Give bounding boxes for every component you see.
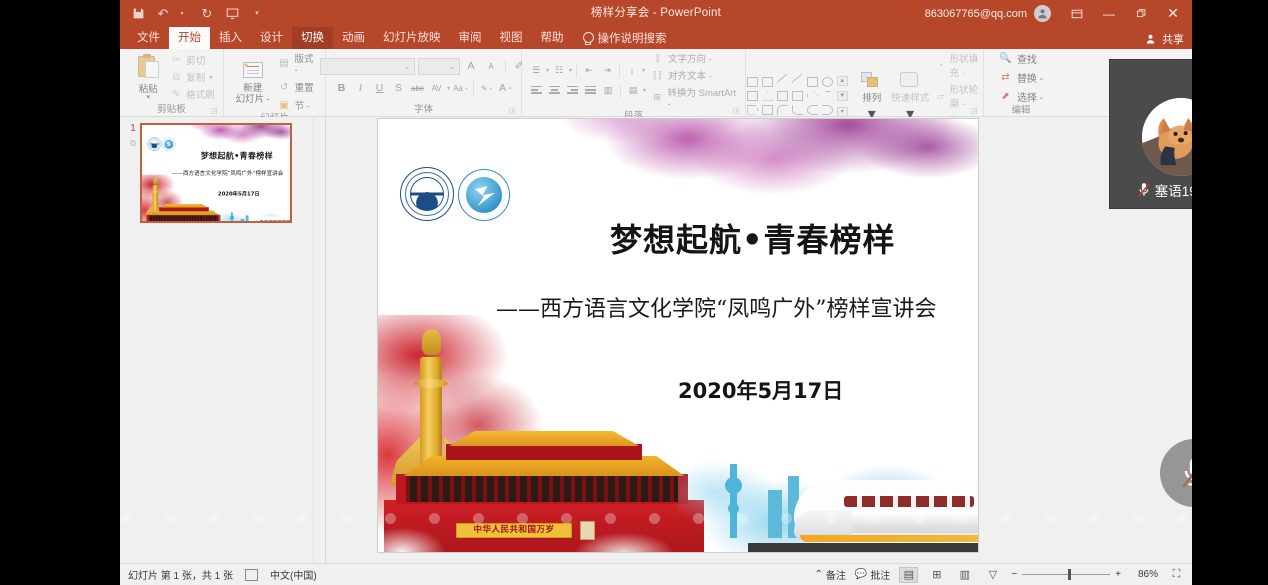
align-text-label: 对齐文本 - <box>668 68 712 82</box>
tiananmen-banner-text: 中华人民共和国万岁 <box>456 523 572 538</box>
grow-font-button[interactable]: A <box>463 58 480 75</box>
title-bar: ↶ ▾ ↻ ▾ 榜样分享会 - PowerPoint 863067765@qq.… <box>120 0 1192 27</box>
tab-insert[interactable]: 插入 <box>210 27 251 49</box>
comment-icon: 💬 <box>855 569 867 580</box>
slide-canvas[interactable]: 中华人民共和国万岁 <box>378 119 978 552</box>
shape-pentagon-icon[interactable] <box>747 105 758 115</box>
zoom-in-button[interactable]: + <box>1115 569 1121 580</box>
slide-count-label: 幻灯片 第 1 张，共 1 张 <box>128 567 233 582</box>
shape-arrow-down-icon[interactable] <box>822 91 833 101</box>
copy-icon: ⧉ <box>170 71 182 83</box>
shapes-gallery-scroll[interactable]: ▲ ▼ ▾ <box>837 76 848 117</box>
shape-flow-icon[interactable] <box>777 91 788 101</box>
zoom-out-button[interactable]: − <box>1011 569 1017 580</box>
bullets-caret-icon[interactable]: ▾ <box>546 67 549 74</box>
share-person-icon <box>1146 33 1158 45</box>
ribbon-group-clipboard: 粘贴 ▾ ✂ 剪切 ⧉ 复制 ▾ <box>120 49 224 116</box>
line-spacing-button[interactable]: ↕ <box>624 63 640 78</box>
shape-rounded-rect-icon[interactable] <box>747 91 758 101</box>
language-label[interactable]: 中文(中国) <box>270 567 317 582</box>
arrange-button[interactable]: 排列 ▾ <box>854 69 890 124</box>
replace-label: 替换 - <box>1017 70 1043 85</box>
tab-file[interactable]: 文件 <box>128 27 169 49</box>
tell-me-search[interactable]: 操作说明搜索 <box>573 27 676 49</box>
section-button[interactable]: ▣ 节 - <box>278 98 319 112</box>
reset-label: 重置 <box>295 80 314 94</box>
section-icon: ▣ <box>278 99 291 112</box>
mic-muted-icon <box>1137 182 1151 198</box>
shape-fill-label: 形状填充 - <box>950 51 984 79</box>
tab-help[interactable]: 帮助 <box>532 27 573 49</box>
letterbox-right <box>1192 0 1268 585</box>
text-shadow-button[interactable]: S <box>390 80 407 97</box>
shape-outline-label: 形状轮廓 - <box>950 82 984 110</box>
zoom-slider[interactable]: − + <box>1011 569 1121 580</box>
paste-dropdown-icon[interactable]: ▾ <box>146 95 150 101</box>
comments-label: 批注 <box>870 567 890 582</box>
zoom-track[interactable] <box>1022 574 1110 575</box>
powerpoint-window: ↶ ▾ ↻ ▾ 榜样分享会 - PowerPoint 863067765@qq.… <box>120 0 1192 585</box>
slide-subtitle-text[interactable]: ——西方语言文化学院“凤鸣广外”榜样宣讲会 <box>496 291 937 323</box>
shape-fill-icon: ◔ <box>936 59 946 71</box>
select-button[interactable]: ⬈ 选择 - <box>999 89 1043 104</box>
notes-icon: ⌃ <box>814 569 822 580</box>
bullets-button[interactable]: ☰ <box>528 63 544 78</box>
reading-view-icon[interactable]: ▥ <box>955 567 974 583</box>
paste-button[interactable]: 粘贴 ▾ <box>128 54 168 101</box>
search-icon: 🔍 <box>999 52 1012 65</box>
slide-date-text[interactable]: 2020年5月17日 <box>678 375 843 405</box>
new-slide-label-2: 幻灯片 - <box>236 94 270 105</box>
format-painter-icon: ✎ <box>170 88 182 100</box>
fit-to-window-icon[interactable]: ⛶ <box>1167 567 1186 583</box>
tell-me-label: 操作说明搜索 <box>598 30 667 46</box>
find-label: 查找 <box>1017 51 1037 66</box>
workspace: 1 ✩ 中华人民共和国万岁 <box>120 117 1192 566</box>
tab-slideshow[interactable]: 幻灯片放映 <box>374 27 450 49</box>
tab-animations[interactable]: 动画 <box>333 27 374 49</box>
align-left-button[interactable] <box>528 83 544 98</box>
shapes-scroll-up-icon[interactable]: ▲ <box>837 76 848 86</box>
underline-button[interactable]: U <box>371 80 388 97</box>
layout-label: 版式 - <box>294 51 319 76</box>
shapes-gallery[interactable]: ▲ ▼ ▾ <box>746 76 848 117</box>
font-name-caret-icon[interactable]: ⌄ <box>404 62 411 71</box>
align-text-button[interactable]: ⟦⟧ 对齐文本 - <box>651 68 739 82</box>
shape-arrow-right-icon[interactable] <box>807 91 818 101</box>
drawing-dialog-launcher[interactable]: ◳ <box>971 107 979 115</box>
tab-home[interactable]: 开始 <box>169 27 210 49</box>
smartart-icon: ⊞ <box>651 92 663 104</box>
shape-arc-icon[interactable] <box>777 105 788 115</box>
character-spacing-button[interactable]: AV <box>428 80 445 97</box>
columns-button[interactable]: ▤ <box>625 83 641 98</box>
lightbulb-icon <box>582 32 593 45</box>
font-group-label: 字体 <box>414 103 433 116</box>
paragraph-dialog-launcher[interactable]: ◳ <box>733 107 741 115</box>
layout-icon: ▤ <box>278 57 291 70</box>
ribbon-tabs: 文件 开始 插入 设计 切换 动画 幻灯片放映 审阅 视图 帮助 操作说明搜索 … <box>120 27 1192 49</box>
find-button[interactable]: 🔍 查找 <box>999 51 1043 66</box>
shapes-grid <box>746 76 835 117</box>
shape-brace-right-icon[interactable] <box>822 105 833 115</box>
gdufs-globe-emblem-icon <box>400 167 454 221</box>
copy-dropdown-icon[interactable]: ▾ <box>209 74 212 81</box>
shape-curve2-icon[interactable] <box>792 105 803 115</box>
shape-triangle-icon[interactable] <box>762 91 773 101</box>
avatar[interactable] <box>1034 5 1051 22</box>
columns-caret-icon[interactable]: ▾ <box>643 87 646 94</box>
ribbon-group-drawing: ▲ ▼ ▾ 排列 ▾ <box>746 49 984 116</box>
font-size-caret-icon[interactable]: ⌄ <box>449 62 456 71</box>
tab-transitions[interactable]: 切换 <box>292 27 333 49</box>
paste-icon <box>136 54 160 80</box>
arrange-icon <box>859 69 884 93</box>
title-bar-right: 863067765@qq.com — ✕ <box>925 0 1188 27</box>
tab-design[interactable]: 设计 <box>251 27 292 49</box>
notes-button[interactable]: ⌃ 备注 <box>814 567 845 582</box>
shape-curve-icon[interactable] <box>792 91 803 101</box>
account-email[interactable]: 863067765@qq.com <box>925 8 1027 20</box>
reset-button[interactable]: ↺ 重置 <box>278 80 319 94</box>
font-dialog-launcher[interactable]: ◳ <box>509 107 517 115</box>
quick-styles-button[interactable]: 快速样式 ▾ <box>890 69 931 124</box>
numbering-button[interactable]: ☷ <box>551 63 567 78</box>
close-button[interactable]: ✕ <box>1158 0 1188 27</box>
zoom-level-label[interactable]: 86% <box>1130 569 1158 580</box>
font-size-combo[interactable]: ⌄ <box>418 58 460 75</box>
clipboard-group-label: 剪贴板 <box>157 103 186 116</box>
ribbon-group-editing: 🔍 查找 ⇄ 替换 - ⬈ 选择 - 编辑 <box>984 49 1058 116</box>
convert-smartart-label: 转换为 SmartArt - <box>668 85 740 110</box>
align-center-button[interactable] <box>546 83 562 98</box>
shape-outline-button[interactable]: ▱ 形状轮廓 - <box>936 82 984 110</box>
shapes-scroll-down-icon[interactable]: ▼ <box>837 91 848 101</box>
format-painter-button[interactable]: ✎ 格式刷 <box>170 87 215 101</box>
zoom-handle[interactable] <box>1068 569 1071 580</box>
shape-outline-icon: ▱ <box>936 90 946 102</box>
arrange-label: 排列 <box>862 93 881 104</box>
replace-icon: ⇄ <box>999 71 1012 84</box>
convert-smartart-button[interactable]: ⊞ 转换为 SmartArt - <box>651 85 739 110</box>
restore-button[interactable] <box>1126 0 1156 27</box>
skyline-train-art <box>678 424 978 552</box>
scissors-icon: ✂ <box>170 54 182 66</box>
text-direction-label: 文字方向 - <box>668 51 712 65</box>
select-label: 选择 - <box>1017 89 1043 104</box>
tab-review[interactable]: 审阅 <box>450 27 491 49</box>
replace-button[interactable]: ⇄ 替换 - <box>999 70 1043 85</box>
text-highlight-button[interactable]: ✎ - <box>478 80 495 97</box>
comments-button[interactable]: 💬 批注 <box>855 567 890 582</box>
layout-button[interactable]: ▤ 版式 - <box>278 51 319 76</box>
numbering-caret-icon[interactable]: ▾ <box>569 67 572 74</box>
school-of-western-languages-emblem-icon <box>458 169 510 221</box>
status-bar-right: ⌃ 备注 💬 批注 ▤ ⊞ ▥ ▽ − + 86% ⛶ <box>814 567 1192 583</box>
share-label: 共享 <box>1162 31 1184 47</box>
slide-title-text[interactable]: 梦想起航•青春榜样 <box>610 215 895 261</box>
status-bar-left: 幻灯片 第 1 张，共 1 张 中文(中国) <box>120 567 317 582</box>
shape-arrow-icon[interactable] <box>792 77 803 87</box>
purple-watercolor-art <box>558 119 978 227</box>
star-icon: ✩ <box>126 137 140 149</box>
font-color-button[interactable]: A - <box>497 80 514 97</box>
paste-label: 粘贴 <box>139 81 158 95</box>
slide-editing-pane: 中华人民共和国万岁 <box>326 117 1192 566</box>
normal-view-icon[interactable]: ▤ <box>899 567 918 583</box>
italic-button[interactable]: I <box>352 80 369 97</box>
copy-button[interactable]: ⧉ 复制 ▾ <box>170 70 215 84</box>
quick-styles-icon <box>898 69 923 93</box>
change-case-button[interactable]: Aa - <box>452 80 469 97</box>
cursor-select-icon: ⬈ <box>999 90 1012 103</box>
screen-root: ↶ ▾ ↻ ▾ 榜样分享会 - PowerPoint 863067765@qq.… <box>0 0 1268 585</box>
reset-icon: ↺ <box>278 81 291 94</box>
shape-textbox-icon[interactable] <box>747 77 758 87</box>
new-slide-label-1: 新建 <box>243 83 262 94</box>
character-spacing-caret-icon[interactable]: ▾ <box>447 85 450 92</box>
new-slide-button[interactable]: ✦ 新建 幻灯片 - <box>230 59 276 105</box>
shrink-font-button[interactable]: A <box>483 58 500 75</box>
line-spacing-caret-icon[interactable]: ▾ <box>642 67 645 74</box>
ribbon-group-slides: ✦ 新建 幻灯片 - ▤ 版式 - ↺ 重置 <box>224 49 326 116</box>
distribute-button[interactable]: ▥ <box>600 83 616 98</box>
align-right-button[interactable] <box>564 83 580 98</box>
shape-rect-icon[interactable] <box>807 77 818 87</box>
clipboard-dialog-launcher[interactable]: ◳ <box>211 107 219 115</box>
text-direction-button[interactable]: ⫿ 文字方向 - <box>651 51 739 65</box>
font-separator <box>505 59 506 73</box>
increase-indent-button[interactable]: ⇥ <box>599 63 615 78</box>
minimize-button[interactable]: — <box>1094 0 1124 27</box>
justify-button[interactable] <box>582 83 598 98</box>
copy-label: 复制 <box>186 70 205 84</box>
bold-button[interactable]: B <box>333 80 350 97</box>
slide-thumbnail-1[interactable]: 中华人民共和国万岁 梦想起航•青春榜样 ——西方语言文化学院“凤鸣广外”榜样宣讲… <box>140 123 292 223</box>
thumbnail-index: 1 ✩ <box>126 123 140 223</box>
letterbox-left <box>0 0 120 585</box>
slideshow-icon[interactable]: ▽ <box>983 567 1002 583</box>
section-label: 节 - <box>295 98 310 112</box>
ribbon-group-font: ⌄ ⌄ A A ✐ B I U <box>326 49 522 116</box>
strikethrough-button[interactable]: abc <box>409 80 426 97</box>
shape-frame-icon[interactable] <box>762 77 773 87</box>
ribbon-group-paragraph: ☰▾ ☷▾ ⇤ ⇥ ↕▾ ▥ <box>522 49 746 116</box>
thumbnail-scrollbar[interactable] <box>313 117 325 566</box>
cut-label: 剪切 <box>186 53 205 67</box>
ribbon-display-options-icon[interactable] <box>1062 0 1092 27</box>
editing-group-label: 编辑 <box>1011 104 1030 117</box>
shape-brace-left-icon[interactable] <box>807 105 818 115</box>
thumbnail-number: 1 <box>130 123 136 134</box>
ribbon: 粘贴 ▾ ✂ 剪切 ⧉ 复制 ▾ <box>120 49 1192 117</box>
share-button[interactable]: 共享 <box>1146 31 1184 47</box>
decrease-indent-button[interactable]: ⇤ <box>581 63 597 78</box>
align-text-icon: ⟦⟧ <box>651 69 664 81</box>
notes-label: 备注 <box>826 567 846 582</box>
tab-view[interactable]: 视图 <box>491 27 532 49</box>
shape-star-icon[interactable] <box>762 105 773 115</box>
accessibility-icon[interactable] <box>245 569 258 581</box>
shape-line-icon[interactable] <box>777 77 788 87</box>
format-painter-label: 格式刷 <box>186 87 215 101</box>
text-direction-icon: ⫿ <box>651 52 664 64</box>
status-bar: 幻灯片 第 1 张，共 1 张 中文(中国) ⌃ 备注 💬 批注 ▤ ⊞ ▥ ▽ <box>120 563 1192 585</box>
slide-sorter-icon[interactable]: ⊞ <box>927 567 946 583</box>
tiananmen-art: 中华人民共和国万岁 <box>384 432 704 552</box>
cut-button[interactable]: ✂ 剪切 <box>170 53 215 67</box>
slide-thumbnail-pane: 1 ✩ 中华人民共和国万岁 <box>120 117 326 566</box>
quick-styles-label: 快速样式 <box>891 93 929 104</box>
shape-fill-button[interactable]: ◔ 形状填充 - <box>936 51 984 79</box>
shapes-more-icon[interactable]: ▾ <box>837 107 848 117</box>
thumbnail-row: 1 ✩ 中华人民共和国万岁 <box>120 117 325 223</box>
font-separator-2 <box>473 81 474 95</box>
new-slide-icon: ✦ <box>240 59 265 83</box>
shape-oval-icon[interactable] <box>822 77 833 87</box>
font-name-combo[interactable]: ⌄ <box>320 58 415 75</box>
